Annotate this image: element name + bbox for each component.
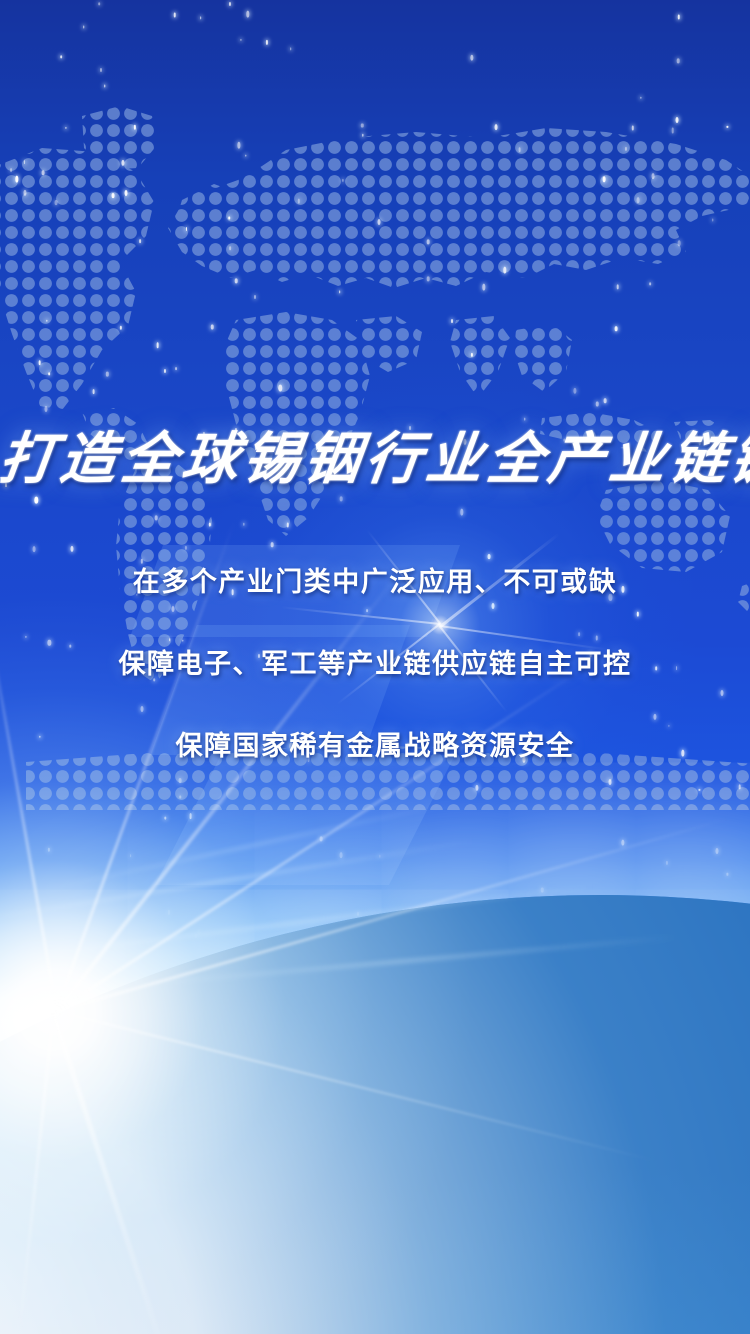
star: [46, 320, 47, 323]
star: [297, 199, 299, 204]
star: [15, 176, 18, 183]
star: [362, 134, 363, 137]
earth-limb: [0, 700, 750, 1334]
poster-canvas: 打造全球锡铟行业全产业链链主 在多个产业门类中广泛应用、不可或缺 保障电子、军工…: [0, 0, 750, 1334]
star: [727, 126, 728, 128]
star: [186, 227, 188, 231]
star: [139, 239, 141, 243]
star: [124, 190, 127, 196]
star: [573, 387, 576, 393]
star: [677, 240, 680, 245]
star: [120, 325, 122, 330]
star: [631, 126, 633, 131]
star: [245, 154, 246, 157]
star: [427, 239, 430, 244]
star: [596, 635, 599, 640]
star: [596, 401, 599, 406]
star: [235, 279, 238, 284]
star: [35, 496, 38, 503]
star: [100, 68, 102, 72]
star: [246, 11, 249, 18]
star: [616, 284, 619, 289]
star: [106, 372, 108, 377]
subtitle-line-1: 在多个产业门类中广泛应用、不可或缺: [0, 560, 750, 599]
star: [229, 217, 231, 220]
star: [678, 15, 680, 20]
star: [487, 554, 490, 560]
star: [211, 324, 214, 329]
star: [470, 54, 473, 61]
star: [339, 290, 341, 293]
star: [25, 636, 26, 638]
page-title: 打造全球锡铟行业全产业链链主: [0, 414, 750, 495]
star: [83, 25, 85, 28]
star: [676, 117, 679, 123]
star: [92, 389, 95, 395]
star: [111, 193, 114, 199]
star: [41, 170, 44, 176]
star: [240, 38, 241, 40]
star: [712, 219, 713, 222]
star: [48, 372, 50, 375]
star: [378, 219, 381, 225]
star: [266, 40, 268, 44]
star: [104, 85, 105, 88]
star: [243, 523, 244, 526]
star: [482, 284, 485, 291]
star: [173, 13, 176, 18]
star: [24, 160, 26, 164]
star: [54, 200, 57, 206]
star: [518, 147, 521, 153]
star: [625, 147, 627, 151]
star: [171, 606, 174, 612]
star: [491, 603, 494, 609]
star: [361, 123, 363, 128]
star: [44, 406, 47, 412]
star: [38, 360, 41, 365]
star: [98, 2, 100, 5]
star: [287, 522, 289, 527]
star: [60, 55, 62, 58]
star: [604, 398, 607, 404]
star: [640, 97, 641, 99]
star: [71, 546, 74, 552]
star: [155, 515, 158, 520]
star: [271, 542, 274, 547]
subtitle-line-3: 保障国家稀有金属战略资源安全: [0, 724, 750, 763]
star: [637, 197, 640, 203]
star: [652, 173, 655, 179]
star: [229, 247, 231, 251]
star: [122, 160, 125, 166]
star: [615, 326, 618, 332]
star: [184, 546, 186, 550]
star: [495, 124, 498, 130]
star: [427, 276, 430, 281]
star: [134, 125, 136, 130]
star: [65, 127, 66, 129]
star: [672, 128, 675, 133]
star: [340, 496, 343, 501]
star: [169, 638, 171, 641]
star: [200, 16, 202, 19]
earth-terminator-glow: [0, 895, 750, 1334]
star: [578, 633, 580, 637]
star: [237, 142, 240, 148]
star: [32, 546, 35, 552]
star: [603, 176, 606, 181]
star: [366, 609, 368, 613]
star: [156, 343, 159, 349]
star: [471, 352, 473, 356]
star: [175, 367, 177, 371]
star: [209, 522, 211, 527]
earth-sphere: [0, 895, 750, 1334]
star: [503, 266, 506, 273]
star: [10, 168, 12, 172]
star: [649, 282, 651, 285]
star: [451, 319, 453, 323]
star: [254, 295, 256, 299]
star: [229, 2, 231, 6]
star: [290, 48, 292, 51]
star: [720, 690, 723, 696]
subtitle-line-2: 保障电子、军工等产业链供应链自主可控: [0, 642, 750, 681]
star: [343, 179, 344, 181]
star: [278, 385, 281, 392]
star: [23, 190, 26, 196]
star: [164, 369, 166, 373]
star: [677, 58, 680, 63]
star: [460, 509, 463, 516]
star: [636, 612, 638, 617]
